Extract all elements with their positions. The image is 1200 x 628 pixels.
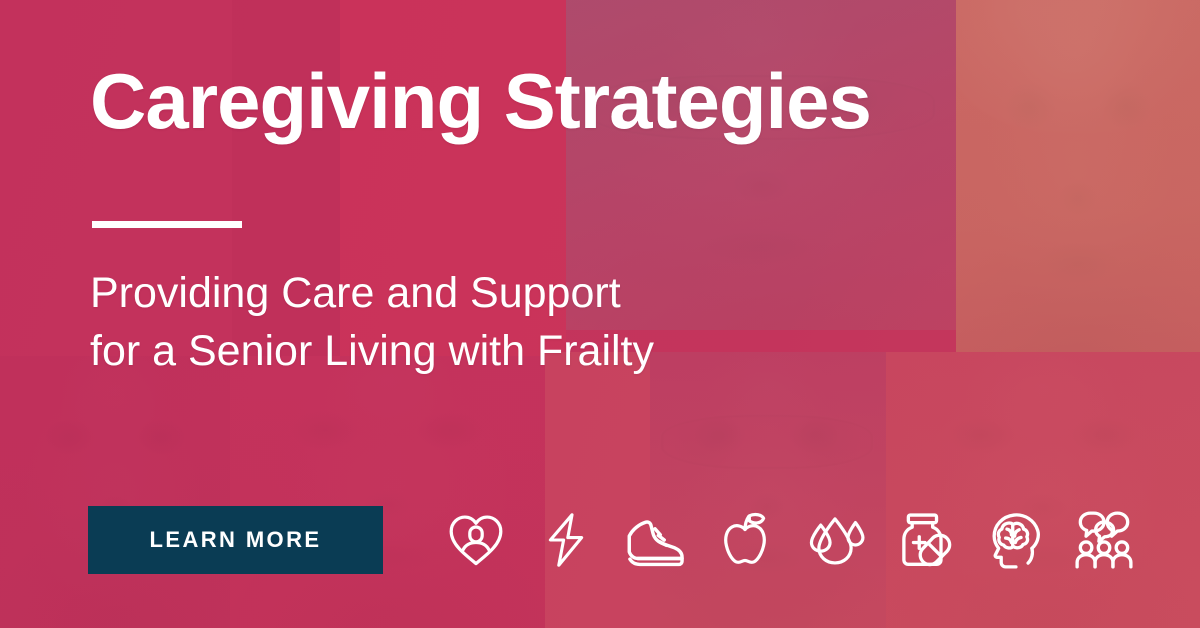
- apple-icon: [709, 504, 781, 576]
- title-divider: [92, 221, 242, 228]
- icon-row: [440, 500, 1140, 580]
- people-group-speech-icon: [1068, 504, 1140, 576]
- subtitle-line-2: for a Senior Living with Frailty: [90, 323, 654, 381]
- medicine-bottle-pills-icon: [889, 504, 961, 576]
- learn-more-button[interactable]: LEARN MORE: [88, 506, 383, 574]
- banner-content: Caregiving Strategies Providing Care and…: [0, 0, 1200, 628]
- heart-person-icon: [440, 504, 512, 576]
- lightning-bolt-icon: [530, 504, 602, 576]
- subtitle-line-1: Providing Care and Support: [90, 265, 654, 323]
- caregiving-strategies-banner: Caregiving Strategies Providing Care and…: [0, 0, 1200, 628]
- head-brain-icon: [978, 504, 1050, 576]
- page-title: Caregiving Strategies: [90, 62, 871, 140]
- page-subtitle: Providing Care and Support for a Senior …: [90, 265, 654, 380]
- water-droplets-icon: [799, 504, 871, 576]
- sneaker-icon: [619, 504, 691, 576]
